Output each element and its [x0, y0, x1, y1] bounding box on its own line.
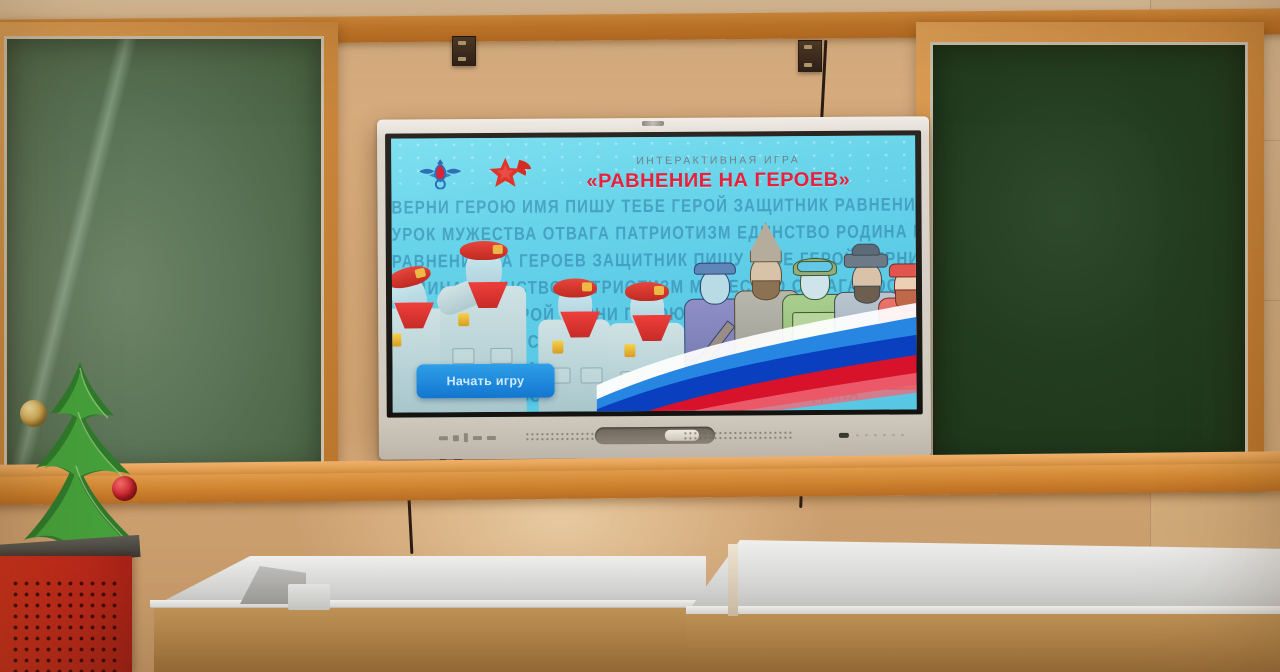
wall-bracket-left	[452, 36, 476, 66]
red-cabinet	[0, 556, 132, 672]
desk-right-side-panel	[728, 544, 738, 616]
red-bauble-ornament	[112, 476, 137, 501]
port-usb-2[interactable]	[473, 436, 482, 440]
display-bottom-bezel	[387, 416, 923, 455]
desk-left	[140, 540, 700, 672]
classroom-scene: ИНТЕРАКТИВНАЯ ИГРА «РАВНЕНИЕ НА ГЕРОЕВ» …	[0, 0, 1280, 672]
start-game-button[interactable]: Начать игру	[416, 364, 554, 399]
port-lan[interactable]	[487, 435, 496, 439]
desk-right-body	[686, 606, 1280, 672]
desk-left-body	[154, 602, 700, 672]
desk-left-edge	[150, 600, 706, 607]
gold-bauble-ornament	[20, 400, 47, 427]
port-cluster[interactable]	[439, 433, 496, 442]
display-camera-module	[642, 121, 664, 126]
slide-titles: ИНТЕРАКТИВНАЯ ИГРА «РАВНЕНИЕ НА ГЕРОЕВ»	[391, 153, 915, 194]
interactive-display[interactable]: ИНТЕРАКТИВНАЯ ИГРА «РАВНЕНИЕ НА ГЕРОЕВ» …	[377, 116, 931, 459]
display-bezel: ИНТЕРАКТИВНАЯ ИГРА «РАВНЕНИЕ НА ГЕРОЕВ» …	[385, 130, 923, 417]
game-title-slide: ИНТЕРАКТИВНАЯ ИГРА «РАВНЕНИЕ НА ГЕРОЕВ» …	[391, 135, 917, 412]
chalkboard-right	[916, 22, 1264, 486]
power-indicator-icon[interactable]	[839, 433, 849, 438]
desk-left-tray	[288, 584, 330, 610]
desk-right	[686, 522, 1280, 672]
wall-outlet-right	[798, 40, 822, 72]
speaker-grille-right	[683, 430, 793, 440]
desk-right-edge	[686, 606, 1280, 614]
slide-kicker: ИНТЕРАКТИВНАЯ ИГРА	[521, 153, 915, 167]
port-usb[interactable]	[439, 436, 448, 440]
slide-title: «РАВНЕНИЕ НА ГЕРОЕВ»	[521, 168, 915, 193]
port-hdmi[interactable]	[453, 435, 459, 441]
port-audio[interactable]	[464, 433, 468, 442]
desk-right-top	[686, 540, 1280, 614]
chalkboard-right-surface	[930, 42, 1248, 464]
russian-flag-ribbon	[596, 291, 917, 412]
cabinet-perforated-panel	[10, 578, 122, 672]
display-screen[interactable]: ИНТЕРАКТИВНАЯ ИГРА «РАВНЕНИЕ НА ГЕРОЕВ» …	[391, 135, 917, 412]
brand-logo	[853, 430, 909, 438]
